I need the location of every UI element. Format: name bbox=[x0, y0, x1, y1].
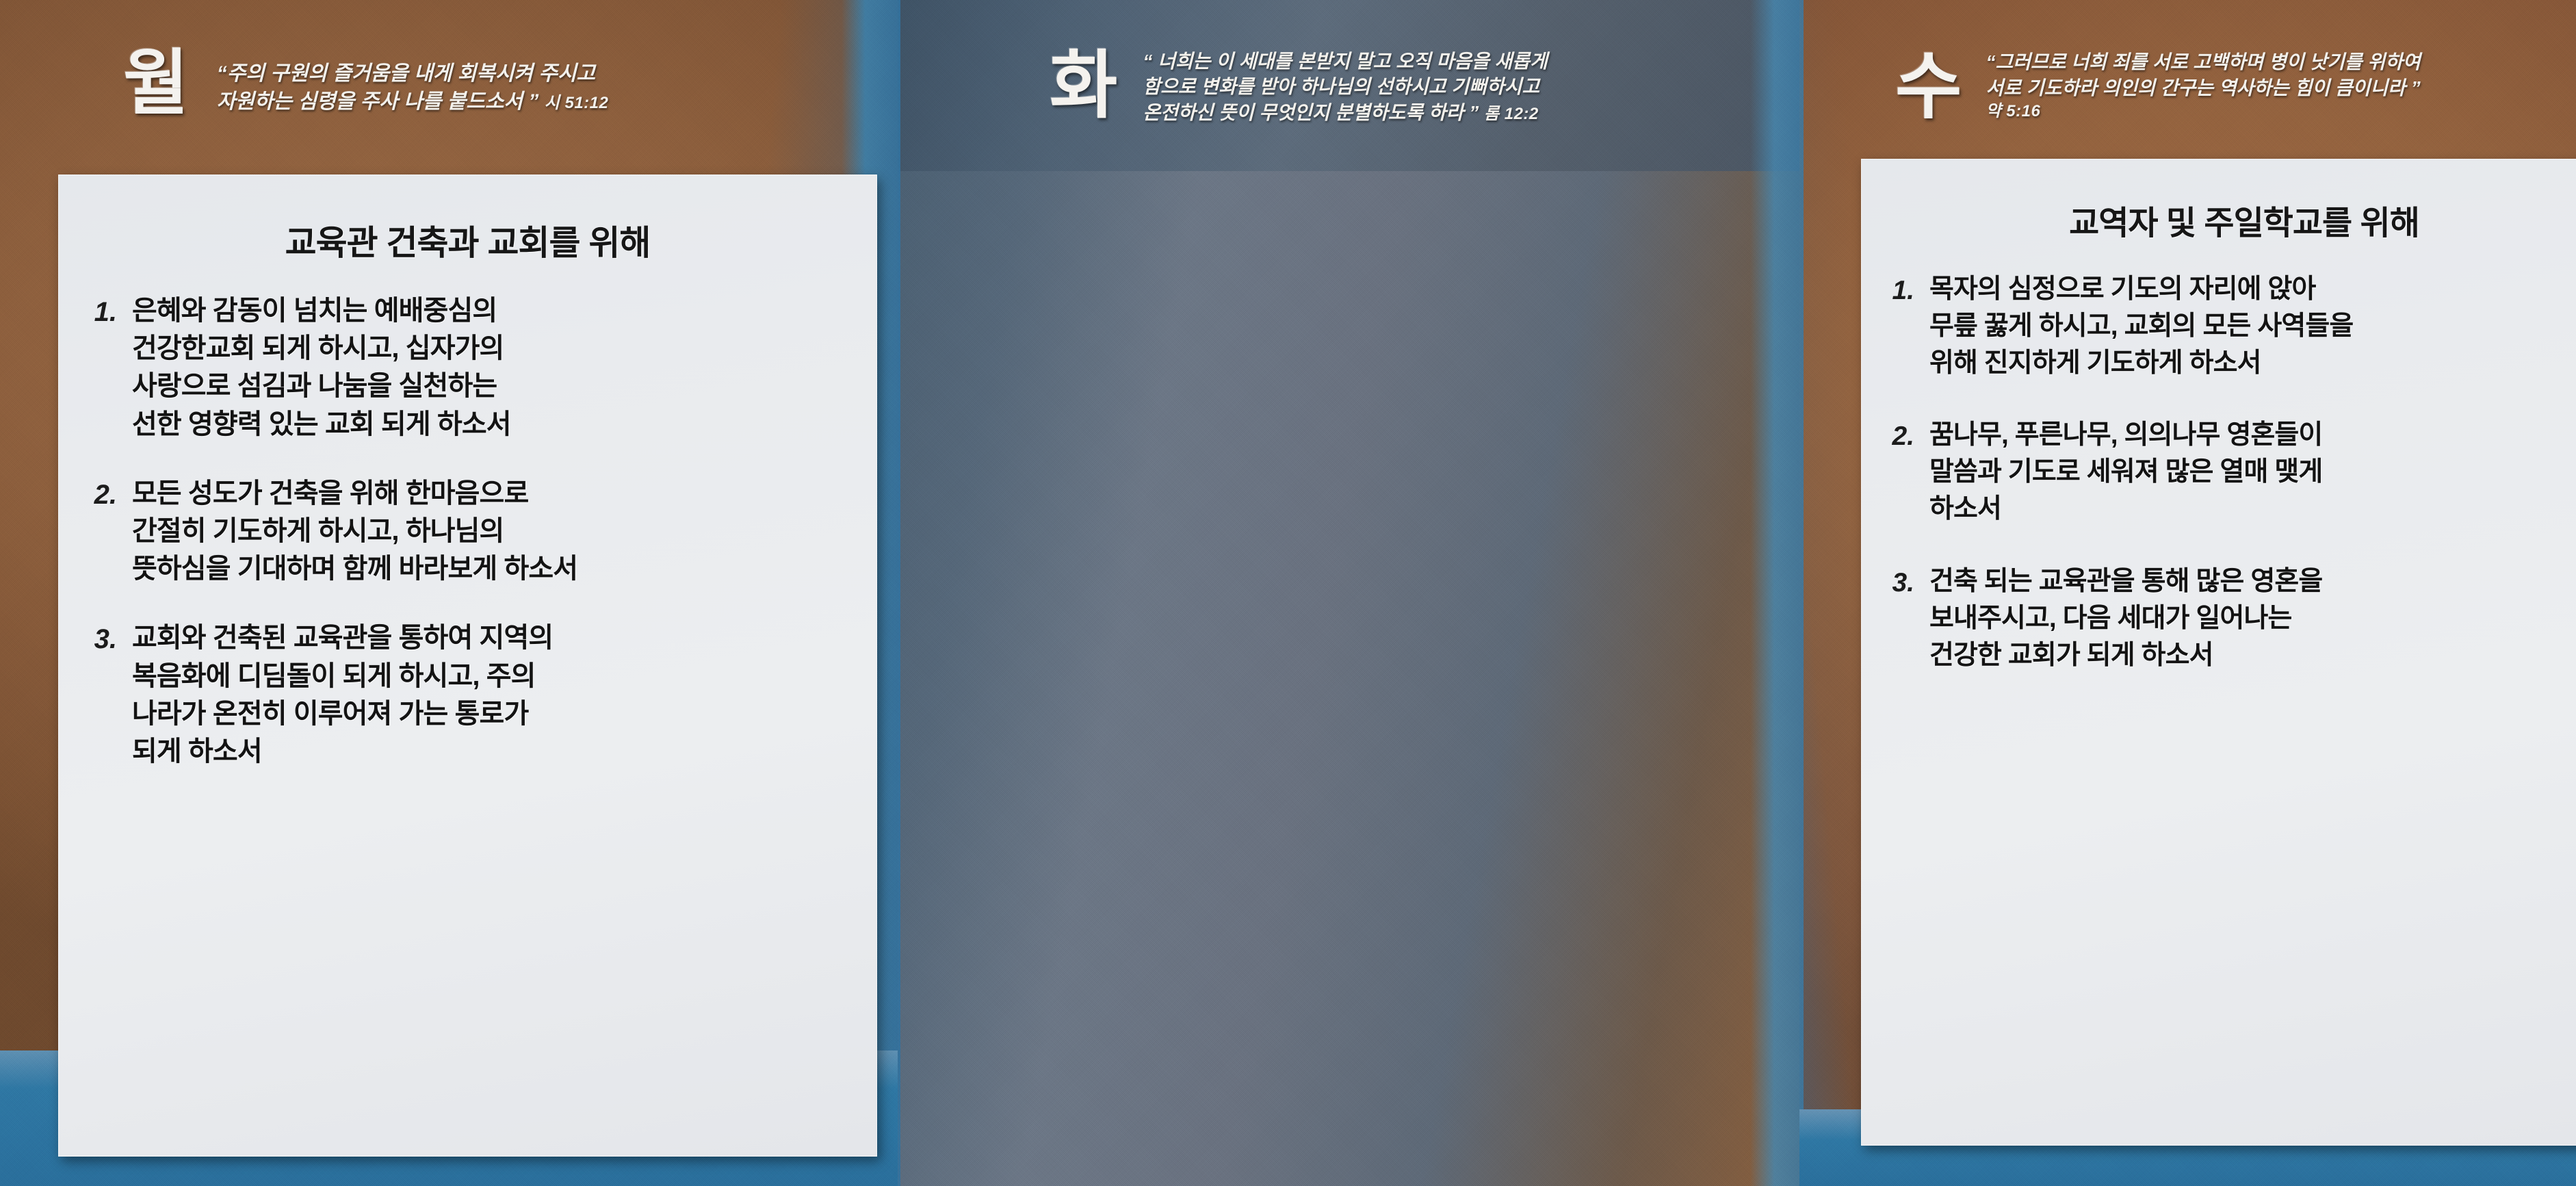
prayer-line: 교회와 건축된 교육관을 통하여 지역의 bbox=[132, 619, 854, 657]
prayer-item-text: 은혜와 감동이 넘치는 예배중심의 건강한교회 되게 하시고, 십자가의 사랑으… bbox=[132, 292, 854, 443]
panel-tuesday-header: 화 “ 너희는 이 세대를 본받지 말고 오직 마음을 새롭게 함으로 변화를 … bbox=[898, 0, 1799, 171]
prayer-item: 2. 모든 성도가 건축을 위해 한마음으로 간절히 기도하게 하시고, 하나님… bbox=[81, 475, 854, 589]
day-glyph-monday: 월 bbox=[123, 48, 190, 119]
verse-reference: 시 51:12 bbox=[545, 94, 609, 112]
prayer-item-text: 교회와 건축된 교육관을 통하여 지역의 복음화에 디딤돌이 되게 하시고, 주… bbox=[132, 619, 854, 771]
prayer-line: 나라가 온전히 이루어져 가는 통로가 bbox=[132, 695, 854, 733]
verse-line: 함으로 변화를 받아 하나님의 선하시고 기뻐하시고 bbox=[1143, 74, 1799, 100]
verse-line: 온전하신 뜻이 무엇인지 분별하도록 하라 ” 롬 12:2 bbox=[1143, 100, 1799, 126]
prayer-item-number: 2. bbox=[81, 475, 132, 513]
prayer-line: 간절히 기도하게 하시고, 하나님의 bbox=[132, 513, 854, 550]
prayer-line: 뜻하심을 기대하며 함께 바라보게 하소서 bbox=[132, 550, 854, 588]
prayer-line: 되게 하소서 bbox=[132, 733, 854, 771]
panel-monday-verse: “주의 구원의 즐거움을 내게 회복시켜 주시고 자원하는 심령을 주사 나를 … bbox=[217, 55, 898, 116]
prayer-item: 3. 교회와 건축된 교육관을 통하여 지역의 복음화에 디딤돌이 되게 하시고… bbox=[81, 619, 854, 771]
prayer-item-number: 1. bbox=[81, 292, 132, 331]
prayer-item-number: 3. bbox=[81, 619, 132, 658]
panel-tuesday: 화 “ 너희는 이 세대를 본받지 말고 오직 마음을 새롭게 함으로 변화를 … bbox=[898, 0, 1799, 1186]
verse-reference: 롬 12:2 bbox=[1484, 105, 1539, 123]
card-title: 교육관 건축과 교회를 위해 bbox=[81, 216, 854, 265]
prayer-line: 은혜와 감동이 넘치는 예배중심의 bbox=[132, 292, 854, 330]
prayer-line: 건강한교회 되게 하시고, 십자가의 bbox=[132, 330, 854, 368]
prayer-line: 복음화에 디딤돌이 되게 하시고, 주의 bbox=[132, 658, 854, 695]
verse-line-text: 자원하는 심령을 주사 나를 붙드소서 ” bbox=[217, 90, 539, 113]
verse-line: “주의 구원의 즐거움을 내게 회복시켜 주시고 bbox=[217, 60, 898, 88]
panel-monday-header: 월 “주의 구원의 즐거움을 내게 회복시켜 주시고 자원하는 심령을 주사 나… bbox=[0, 0, 898, 171]
prayer-item-text: 모든 성도가 건축을 위해 한마음으로 간절히 기도하게 하시고, 하나님의 뜻… bbox=[132, 475, 854, 589]
verse-reference: 약 5:16 bbox=[1986, 101, 2576, 123]
prayer-item: 1. 은혜와 감동이 넘치는 예배중심의 건강한교회 되게 하시고, 십자가의 … bbox=[81, 292, 854, 443]
prayer-line: 모든 성도가 건축을 위해 한마음으로 bbox=[132, 475, 854, 513]
panel-tuesday-verse: “ 너희는 이 세대를 본받지 말고 오직 마음을 새롭게 함으로 변화를 받아… bbox=[1143, 46, 1799, 126]
panel-wednesday-verse: “그러므로 너희 죄를 서로 고백하며 병이 낫기를 위하여 서로 기도하라 의… bbox=[1986, 48, 2576, 123]
panel-wednesday: 수 “그러므로 너희 죄를 서로 고백하며 병이 낫기를 위하여 서로 기도하라… bbox=[1799, 0, 2576, 1186]
panel-wednesday-header: 수 “그러므로 너희 죄를 서로 고백하며 병이 낫기를 위하여 서로 기도하라… bbox=[1799, 0, 2576, 171]
verse-line: “그러므로 너희 죄를 서로 고백하며 병이 낫기를 위하여 bbox=[1986, 49, 2576, 75]
prayer-list: 1. 은혜와 감동이 넘치는 예배중심의 건강한교회 되게 하시고, 십자가의 … bbox=[81, 292, 854, 771]
day-glyph-tuesday: 화 bbox=[1050, 49, 1118, 123]
prayer-line: 선한 영향력 있는 교회 되게 하소서 bbox=[132, 406, 854, 443]
verse-line: 자원하는 심령을 주사 나를 붙드소서 ” 시 51:12 bbox=[217, 88, 898, 116]
panel-monday: 월 “주의 구원의 즐거움을 내게 회복시켜 주시고 자원하는 심령을 주사 나… bbox=[0, 0, 898, 1186]
verse-line: “ 너희는 이 세대를 본받지 말고 오직 마음을 새롭게 bbox=[1143, 49, 1799, 75]
verse-line: 서로 기도하라 의인의 간구는 역사하는 힘이 큼이니라 ” bbox=[1986, 75, 2576, 101]
day-glyph-wednesday: 수 bbox=[1895, 51, 1963, 123]
prayer-card-monday: 교육관 건축과 교회를 위해 1. 은혜와 감동이 넘치는 예배중심의 건강한교… bbox=[58, 175, 877, 1157]
verse-line-text: 온전하신 뜻이 무엇인지 분별하도록 하라 ” bbox=[1143, 102, 1479, 123]
prayer-line: 사랑으로 섬김과 나눔을 실천하는 bbox=[132, 368, 854, 405]
prayer-board-image: 월 “주의 구원의 즐거움을 내게 회복시켜 주시고 자원하는 심령을 주사 나… bbox=[0, 0, 2576, 1186]
